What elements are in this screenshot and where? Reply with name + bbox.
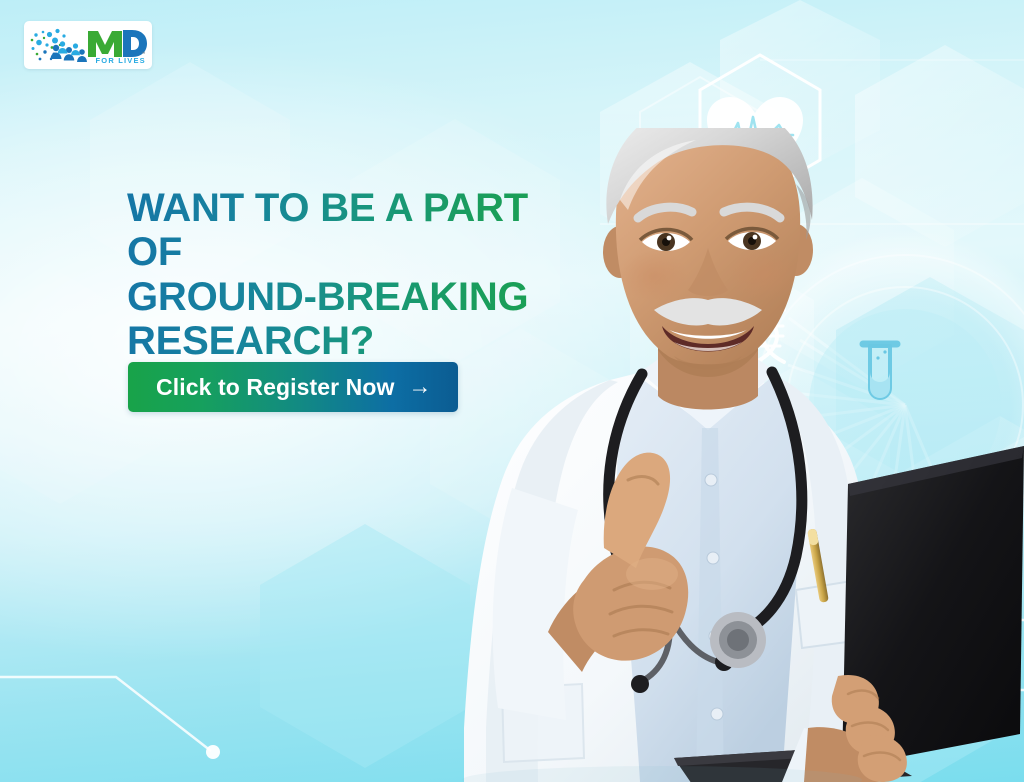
logo-tagline: FOR LIVES xyxy=(96,56,146,65)
stethoscope-chestpiece xyxy=(710,612,766,668)
logo-dot-cluster xyxy=(31,29,87,62)
md-for-lives-logo[interactable]: FOR LIVES ™ xyxy=(24,21,152,69)
doctor-head xyxy=(603,128,813,370)
logo-trademark: ™ xyxy=(141,51,146,56)
promo-banner: FOR LIVES ™ WANT TO BE A PART OF GROUND-… xyxy=(0,0,1024,782)
logo-letter-m xyxy=(88,31,122,57)
senior-doctor-photo xyxy=(352,128,1024,782)
